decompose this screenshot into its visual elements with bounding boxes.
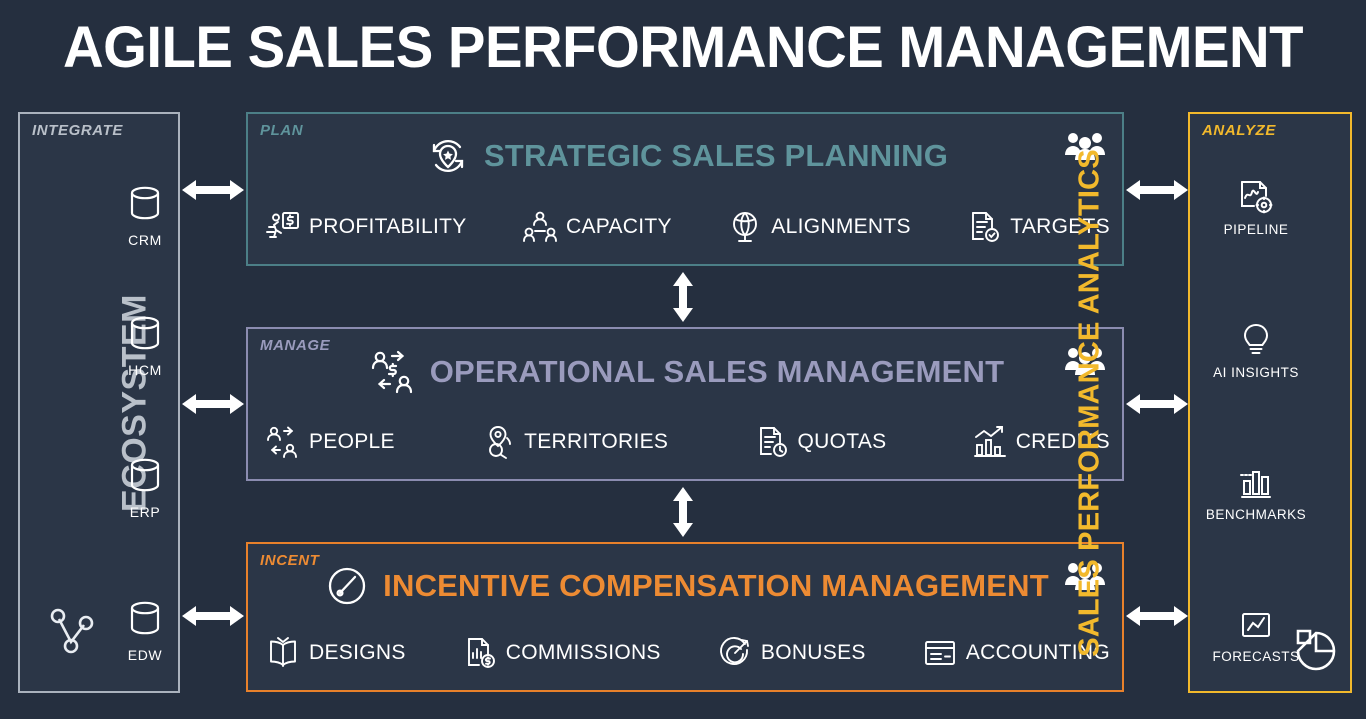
network-nodes-icon — [48, 606, 92, 662]
database-icon — [112, 314, 178, 356]
arrow-left-right-icon-manage-right — [1124, 390, 1190, 418]
incent-item-label: DESIGNS — [309, 641, 406, 665]
pipeline-report-icon — [1198, 178, 1314, 218]
incent-title: INCENTIVE COMPENSATION MANAGEMENT — [383, 568, 1049, 604]
analyze-kicker: ANALYZE — [1202, 122, 1276, 139]
integrate-item-label: CRM — [112, 232, 178, 248]
plan-item-capacity[interactable]: CAPACITY — [523, 210, 672, 244]
runner-dollar-icon — [266, 210, 300, 244]
analyze-panel: ANALYZE SALES PERFORMANCE ANALYTICS — [1188, 112, 1352, 693]
incent-items: DESIGNS COMMISSIONS — [266, 636, 1110, 670]
incent-item-label: BONUSES — [761, 641, 866, 665]
people-transfer-icon — [266, 425, 300, 459]
analyze-item-label: FORECASTS — [1198, 649, 1314, 664]
manage-item-label: TERRITORIES — [524, 430, 668, 454]
integrate-item-edw[interactable]: EDW — [112, 599, 178, 663]
database-icon — [112, 456, 178, 498]
manage-header: OPERATIONAL SALES MANAGEMENT — [248, 349, 1126, 395]
integrate-item-label: EDW — [112, 647, 178, 663]
arrow-left-right-icon-incent — [180, 602, 246, 630]
arrow-left-right-icon-incent-right — [1124, 602, 1190, 630]
plan-item-label: PROFITABILITY — [309, 215, 467, 239]
integrate-item-hcm[interactable]: HCM — [112, 314, 178, 378]
arrow-left-right-icon-plan — [180, 176, 246, 204]
integrate-item-label: ERP — [112, 504, 178, 520]
plan-panel: PLAN STR — [246, 112, 1124, 266]
gauge-icon — [325, 564, 369, 608]
manage-panel: MANAGE — [246, 327, 1124, 481]
globe-icon — [728, 210, 762, 244]
incent-item-designs[interactable]: DESIGNS — [266, 636, 406, 670]
analyze-item-label: AI INSIGHTS — [1198, 365, 1314, 380]
integrate-item-label: HCM — [112, 362, 178, 378]
incent-item-bonuses[interactable]: BONUSES — [718, 636, 866, 670]
bar-chart-icon — [1198, 463, 1314, 503]
lightbulb-icon — [1198, 321, 1314, 361]
strategy-target-refresh-icon — [426, 134, 470, 178]
manage-item-quotas[interactable]: QUOTAS — [755, 425, 887, 459]
analyze-item-pipeline[interactable]: PIPELINE — [1198, 178, 1314, 237]
arrow-left-right-icon-plan-right — [1124, 176, 1190, 204]
page-title: AGILE SALES PERFORMANCE MANAGEMENT — [20, 14, 1345, 81]
database-icon — [112, 599, 178, 641]
plan-item-label: CAPACITY — [566, 215, 672, 239]
manage-item-label: PEOPLE — [309, 430, 395, 454]
incent-item-commissions[interactable]: COMMISSIONS — [463, 636, 661, 670]
document-check-icon — [967, 210, 1001, 244]
manage-item-territories[interactable]: TERRITORIES — [481, 425, 668, 459]
integrate-panel: INTEGRATE ECOSYSTEM — [18, 112, 180, 693]
bar-chart-trend-icon — [973, 425, 1007, 459]
manage-item-people[interactable]: PEOPLE — [266, 425, 395, 459]
analyze-item-benchmarks[interactable]: BENCHMARKS — [1198, 463, 1314, 522]
open-book-icon — [266, 636, 300, 670]
plan-items: PROFITABILITY CAPACITY — [266, 210, 1110, 244]
plan-header: STRATEGIC SALES PLANNING — [248, 134, 1126, 178]
integrate-item-crm[interactable]: CRM — [112, 184, 178, 248]
arrow-left-right-icon-manage — [180, 390, 246, 418]
manage-item-label: QUOTAS — [798, 430, 887, 454]
arrow-up-down-icon-plan-manage — [669, 270, 697, 324]
people-capacity-icon — [523, 210, 557, 244]
plan-item-alignments[interactable]: ALIGNMENTS — [728, 210, 911, 244]
diagram-canvas: AGILE SALES PERFORMANCE MANAGEMENT INTEG… — [0, 0, 1366, 719]
map-pin-search-icon — [481, 425, 515, 459]
plan-title: STRATEGIC SALES PLANNING — [484, 138, 948, 174]
target-arrow-icon — [718, 636, 752, 670]
database-icon — [112, 184, 178, 226]
manage-title: OPERATIONAL SALES MANAGEMENT — [430, 354, 1005, 390]
integrate-item-erp[interactable]: ERP — [112, 456, 178, 520]
analyze-item-label: BENCHMARKS — [1198, 507, 1314, 522]
arrow-up-down-icon-manage-incent — [669, 485, 697, 539]
analyze-item-ai-insights[interactable]: AI INSIGHTS — [1198, 321, 1314, 380]
document-clock-icon — [755, 425, 789, 459]
manage-items: PEOPLE TERRITORIES — [266, 425, 1110, 459]
incent-item-label: COMMISSIONS — [506, 641, 661, 665]
integrate-kicker: INTEGRATE — [32, 122, 123, 139]
people-exchange-dollar-icon — [370, 349, 416, 395]
line-chart-frame-icon — [1198, 605, 1314, 645]
incent-header: INCENTIVE COMPENSATION MANAGEMENT — [248, 564, 1126, 608]
analyze-item-label: PIPELINE — [1198, 222, 1314, 237]
plan-item-label: ALIGNMENTS — [771, 215, 911, 239]
incent-panel: INCENT INCENTIVE CO — [246, 542, 1124, 692]
ledger-card-icon — [923, 636, 957, 670]
sales-performance-analytics-vertical-label: SALES PERFORMANCE ANALYTICS — [1074, 149, 1107, 657]
plan-item-profitability[interactable]: PROFITABILITY — [266, 210, 467, 244]
analyze-item-forecasts[interactable]: FORECASTS — [1198, 605, 1314, 664]
document-dollar-icon — [463, 636, 497, 670]
